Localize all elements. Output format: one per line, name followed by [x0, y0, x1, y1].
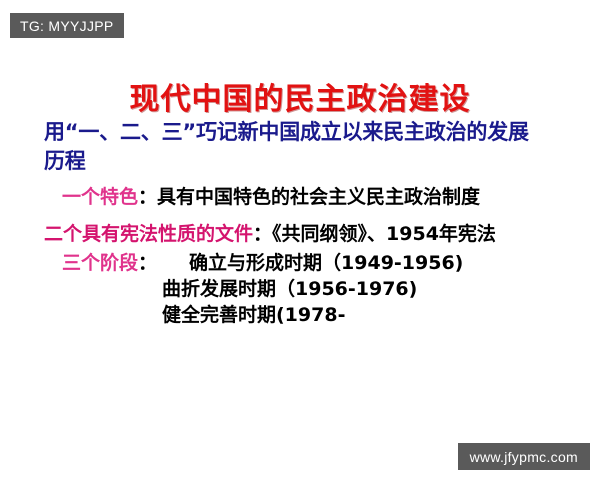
point-two-documents: 二个具有宪法性质的文件：《共同纲领》、1954年宪法 — [44, 221, 552, 248]
page-title: 现代中国的民主政治建设 — [0, 82, 600, 118]
slide-body: 用“一、二、三”巧记新中国成立以来民主政治的发展历程 一个特色：具有中国特色的社… — [44, 118, 556, 328]
stage-item-3: 健全完善时期(1978- — [62, 302, 556, 328]
stage-item-2: 曲折发展时期（1956-1976) — [62, 276, 556, 302]
intro-paragraph: 用“一、二、三”巧记新中国成立以来民主政治的发展历程 — [44, 118, 544, 176]
point-one-key: 一个特色 — [62, 186, 138, 208]
stage-item-1: 确立与形成时期（1949-1956) — [157, 252, 463, 274]
point-two-separator: ： — [253, 223, 272, 245]
point-two-value: 《共同纲领》、1954年宪法 — [272, 223, 496, 245]
point-three-first-row: 三个阶段：确立与形成时期（1949-1956) — [62, 250, 556, 276]
point-one-feature: 一个特色：具有中国特色的社会主义民主政治制度 — [44, 184, 556, 211]
point-two-key: 二个具有宪法性质的文件 — [44, 223, 253, 245]
point-one-value: 具有中国特色的社会主义民主政治制度 — [157, 186, 480, 208]
point-three-stages: 三个阶段：确立与形成时期（1949-1956) 曲折发展时期（1956-1976… — [44, 250, 556, 328]
watermark-badge-top-left: TG: MYYJJPP — [10, 13, 124, 38]
point-three-separator: ： — [138, 252, 157, 274]
point-one-separator: ： — [138, 186, 157, 208]
point-three-key: 三个阶段 — [62, 252, 138, 274]
slide-canvas: TG: MYYJJPP 现代中国的民主政治建设 用“一、二、三”巧记新中国成立以… — [0, 0, 600, 480]
watermark-badge-bottom-right: www.jfypmc.com — [458, 443, 590, 470]
